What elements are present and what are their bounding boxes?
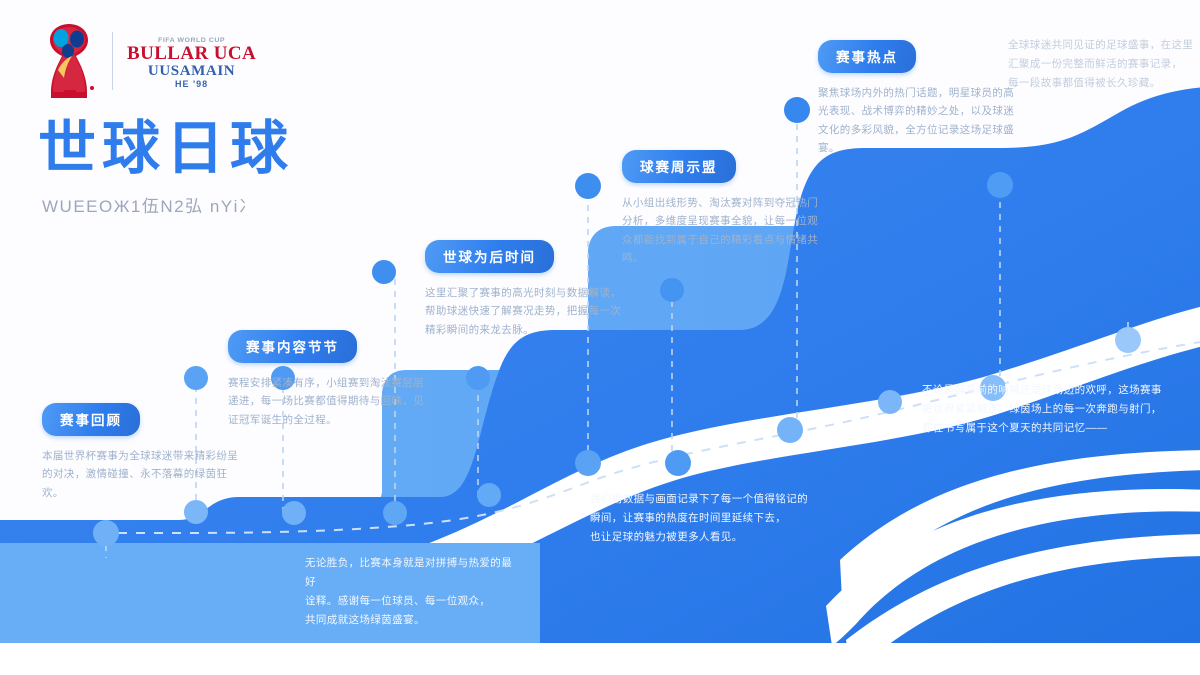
annotation-line: 共同成就这场绿茵盛宴。 <box>305 611 520 630</box>
card-body-text: 从小组出线形势、淘汰赛对阵到夺冠热门分析，多维度呈现赛事全貌，让每一位观众都能找… <box>622 194 827 268</box>
header-block: FIFA WORLD CUP BULLAR UCA UUSAMAIN HE '9… <box>38 18 294 217</box>
timeline-node[interactable] <box>184 366 208 390</box>
timeline-node[interactable] <box>878 390 902 414</box>
annotation-text: 无论胜负，比赛本身就是对拼搏与热爱的最好诠释。感谢每一位球员、每一位观众，共同成… <box>305 554 520 630</box>
infographic-canvas: FIFA WORLD CUP BULLAR UCA UUSAMAIN HE '9… <box>0 0 1200 675</box>
annotation-line: 汇聚成一份完整而鲜活的赛事记录， <box>1008 55 1194 74</box>
card-badge[interactable]: 球赛周示盟 <box>622 150 736 183</box>
logo-wordmark: FIFA WORLD CUP BULLAR UCA UUSAMAIN HE '9… <box>127 33 256 89</box>
annotation-text: 我们用数据与画面记录下了每一个值得铭记的瞬间，让赛事的热度在时间里延续下去，也让… <box>590 490 830 547</box>
logo-line-tiny: FIFA WORLD CUP <box>158 37 225 44</box>
annotation-text: 不论是屏幕前的呐喊还是球场边的欢呼，这场赛事把世界紧紧相连。绿茵场上的每一次奔跑… <box>922 381 1194 438</box>
timeline-node[interactable] <box>383 501 407 525</box>
annotation-line: 瞬间，让赛事的热度在时间里延续下去， <box>590 509 830 528</box>
annotation-line: 无论胜负，比赛本身就是对拼搏与热爱的最好 <box>305 554 520 592</box>
annotation-text: 全球球迷共同见证的足球盛事，在这里汇聚成一份完整而鲜活的赛事记录，每一段故事都值… <box>1008 36 1194 93</box>
timeline-node[interactable] <box>372 260 396 284</box>
card-body-text: 聚焦球场内外的热门话题，明星球员的高光表现、战术博弈的精妙之处，以及球迷文化的多… <box>818 84 1023 158</box>
timeline-node[interactable] <box>477 483 501 507</box>
annotation-line: 都在书写属于这个夏天的共同记忆—— <box>922 419 1194 438</box>
timeline-card[interactable]: 赛事热点聚焦球场内外的热门话题，明星球员的高光表现、战术博弈的精妙之处，以及球迷… <box>818 40 1023 158</box>
annotation-line: 诠释。感谢每一位球员、每一位观众， <box>305 592 520 611</box>
timeline-node[interactable] <box>987 172 1013 198</box>
timeline-node[interactable] <box>184 500 208 524</box>
annotation-line: 全球球迷共同见证的足球盛事，在这里 <box>1008 36 1194 55</box>
card-badge[interactable]: 赛事回顾 <box>42 403 140 436</box>
timeline-node[interactable] <box>93 520 119 546</box>
annotation-line: 我们用数据与画面记录下了每一个值得铭记的 <box>590 490 830 509</box>
timeline-card[interactable]: 世球为后时间这里汇聚了赛事的高光时刻与数据解读，帮助球迷快速了解赛况走势，把握每… <box>425 240 630 339</box>
fifa-world-cup-trophy-emblem <box>38 18 100 104</box>
logo-line-blue: UUSAMAIN <box>148 64 235 80</box>
card-body-text: 本届世界杯赛事为全球球迷带来精彩纷呈的对决，激情碰撞、永不落幕的绿茵狂欢。 <box>42 447 247 502</box>
card-badge[interactable]: 赛事热点 <box>818 40 916 73</box>
annotation-line: 把世界紧紧相连。绿茵场上的每一次奔跑与射门， <box>922 400 1194 419</box>
timeline-node[interactable] <box>575 450 601 476</box>
card-badge[interactable]: 世球为后时间 <box>425 240 554 273</box>
timeline-node[interactable] <box>784 97 810 123</box>
annotation-line: 不论是屏幕前的呐喊还是球场边的欢呼，这场赛事 <box>922 381 1194 400</box>
timeline-node[interactable] <box>575 173 601 199</box>
page-subtitle: WUEEOЖ1伍N2弘 nΥi冫 <box>42 192 294 217</box>
annotation-line: 也让足球的魅力被更多人看见。 <box>590 528 830 547</box>
logo-divider <box>112 32 113 90</box>
card-body-text: 赛程安排紧凑有序，小组赛到淘汰赛层层递进，每一场比赛都值得期待与回味，见证冠军诞… <box>228 374 433 429</box>
timeline-card[interactable]: 赛事回顾本届世界杯赛事为全球球迷带来精彩纷呈的对决，激情碰撞、永不落幕的绿茵狂欢… <box>42 403 247 502</box>
page-title: 世球日球 <box>38 120 294 178</box>
timeline-node[interactable] <box>1115 327 1141 353</box>
timeline-card[interactable]: 赛事内容节节赛程安排紧凑有序，小组赛到淘汰赛层层递进，每一场比赛都值得期待与回味… <box>228 330 433 429</box>
card-badge[interactable]: 赛事内容节节 <box>228 330 357 363</box>
logo-row: FIFA WORLD CUP BULLAR UCA UUSAMAIN HE '9… <box>38 18 294 104</box>
timeline-node[interactable] <box>660 278 684 302</box>
logo-line-red: BULLAR UCA <box>127 44 256 64</box>
timeline-node[interactable] <box>777 417 803 443</box>
logo-line-sub: HE '98 <box>175 80 208 89</box>
timeline-card[interactable]: 球赛周示盟从小组出线形势、淘汰赛对阵到夺冠热门分析，多维度呈现赛事全貌，让每一位… <box>622 150 827 268</box>
timeline-node[interactable] <box>282 501 306 525</box>
card-body-text: 这里汇聚了赛事的高光时刻与数据解读，帮助球迷快速了解赛况走势，把握每一次精彩瞬间… <box>425 284 630 339</box>
timeline-node[interactable] <box>665 450 691 476</box>
annotation-line: 每一段故事都值得被长久珍藏。 <box>1008 74 1194 93</box>
timeline-node[interactable] <box>466 366 490 390</box>
